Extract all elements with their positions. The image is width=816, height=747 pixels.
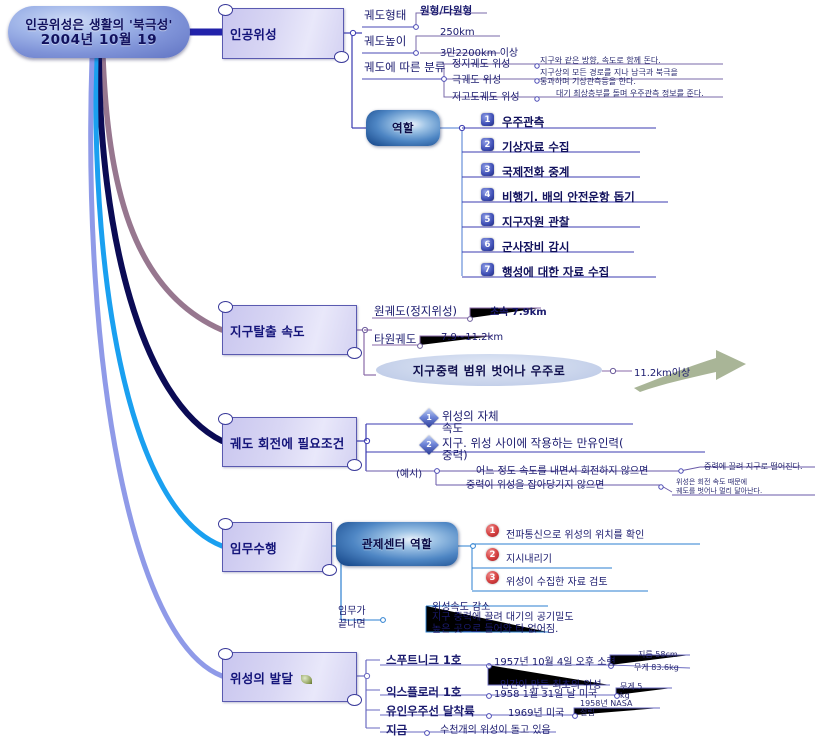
role-label-4: 비행기. 배의 안전운항 돕기 — [502, 189, 635, 205]
history-note-1a: 지름 58cm — [638, 650, 678, 660]
role-badge-3: 3 — [481, 163, 494, 176]
node-roles[interactable]: 역할 — [366, 110, 440, 146]
node-handle-bottom-right[interactable] — [322, 564, 337, 576]
value-orbit-altitude-1: 250km — [440, 27, 475, 38]
example-effect-2a: 위성은 회전 속도 때문에 — [676, 478, 747, 487]
label-orbit-classification: 궤도에 따른 분류 — [364, 61, 445, 73]
node-escape-to-space[interactable]: 지구중력 범위 벗어나 우주로 — [376, 354, 602, 386]
node-control-center[interactable]: 관제센터 역할 — [336, 522, 458, 566]
topic-node-mission[interactable]: 임무수행 — [222, 522, 332, 572]
node-handle-top-left[interactable] — [218, 413, 233, 425]
value-circular-orbit: 초속 7.9km — [490, 303, 547, 318]
control-badge-1: 1 — [486, 524, 499, 537]
orbit-type-polar: 극궤도 위성 — [452, 71, 501, 86]
control-label-1: 전파통신으로 위성의 위치를 확인 — [506, 526, 644, 541]
orbit-type-geostationary: 정지궤도 위성 — [452, 55, 510, 70]
orbit-type-low: 저고도궤도 위성 — [452, 88, 520, 103]
node-handle-top-left[interactable] — [218, 648, 233, 660]
topic-label-mission: 임무수행 — [223, 538, 277, 557]
node-handle-top-left[interactable] — [218, 4, 233, 16]
example-effect-1: 중력에 끌려 지구로 떨어진다. — [704, 462, 803, 472]
history-value-3: 1969년 미국 — [508, 704, 564, 719]
label-orbit-shape: 궤도형태 — [364, 9, 406, 21]
label-orbit-altitude: 궤도높이 — [364, 35, 406, 47]
role-label-3: 국제전화 중계 — [502, 164, 569, 180]
role-badge-6: 6 — [481, 238, 494, 251]
control-badge-2: 2 — [486, 548, 499, 561]
root-title-line1: 인공위성은 생활의 '북극성' — [25, 17, 172, 32]
topic-node-orbit-conditions[interactable]: 궤도 회전에 필요조건 — [222, 417, 357, 467]
role-label-5: 지구자원 관찰 — [502, 214, 569, 230]
topic-label-satellite: 인공위성 — [223, 24, 277, 43]
leaf-icon — [301, 675, 312, 684]
history-name-2: 익스플로러 1호 — [386, 684, 462, 700]
history-sub-2: 1958년 NASA 설립 — [580, 700, 632, 717]
role-label-2: 기상자료 수집 — [502, 139, 569, 155]
control-label-2: 지시내리기 — [506, 550, 552, 565]
condition-text-2: 지구. 위성 사이에 작용하는 만유인력( 중력) — [442, 437, 623, 461]
control-label-3: 위성이 수집한 자료 검토 — [506, 573, 608, 588]
role-label-1: 우주관측 — [502, 114, 544, 130]
role-badge-1: 1 — [481, 113, 494, 126]
control-badge-3: 3 — [486, 571, 499, 584]
topic-node-history[interactable]: 위성의 발달 — [222, 652, 357, 702]
orbit-desc-geostationary: 지구와 같은 방향, 속도로 함께 돈다. — [540, 56, 661, 66]
node-escape-to-space-label: 지구중력 범위 벗어나 우주로 — [413, 362, 566, 379]
condition-diamond-2: 2 — [419, 435, 439, 455]
label-circular-orbit: 원궤도(정지위성) — [374, 305, 457, 317]
condition-diamond-1: 1 — [419, 408, 439, 428]
node-handle-bottom-right[interactable] — [334, 51, 349, 63]
topic-label-history: 위성의 발달 — [223, 668, 293, 687]
role-badge-2: 2 — [481, 138, 494, 151]
example-cause-1: 어느 정도 속도를 내면서 회전하지 않으면 — [476, 462, 648, 477]
topic-node-satellite[interactable]: 인공위성 — [222, 8, 344, 59]
root-title-line2: 2004년 10월 19 — [25, 32, 172, 48]
role-label-7: 행성에 대한 자료 수집 — [502, 264, 609, 280]
node-roles-label: 역할 — [392, 120, 414, 136]
topic-label-orbit-conditions: 궤도 회전에 필요조건 — [223, 433, 344, 452]
example-effect-2b: 궤도를 벗어나 멀리 달아난다. — [676, 487, 762, 496]
history-name-1: 스푸트니크 1호 — [386, 652, 462, 668]
value-elliptic-orbit: 7.9~11.2km — [441, 332, 503, 343]
role-badge-5: 5 — [481, 213, 494, 226]
history-name-3: 유인우주선 달착륙 — [386, 703, 475, 719]
after-item-1: 위성속도 감소 — [432, 598, 490, 613]
orbit-desc-low: 대기 최상층부를 돌며 우주관측 정보를 준다. — [556, 89, 704, 99]
label-elliptic-orbit: 타원궤도 — [374, 333, 416, 345]
history-note-1b: 무게 83.6kg — [634, 663, 679, 673]
value-escape-threshold: 11.2km이상 — [634, 364, 690, 379]
orbit-desc-polar-2: 통과하며 기상관측등을 한다. — [540, 77, 636, 87]
role-badge-4: 4 — [481, 188, 494, 201]
history-value-2: 1958 1월 31일 날 미국 — [494, 685, 597, 700]
after-item-2: 지구 중력에 끌려 대기의 공기밀도 높은 곳으로 들어와 타 없어짐. — [432, 612, 574, 636]
node-handle-bottom-right[interactable] — [347, 459, 362, 471]
condition-text-1: 위성의 자체 속도 — [442, 410, 499, 434]
node-handle-bottom-right[interactable] — [347, 347, 362, 359]
topic-node-escape-speed[interactable]: 지구탈출 속도 — [222, 305, 357, 355]
node-handle-top-left[interactable] — [218, 518, 233, 530]
node-handle-bottom-right[interactable] — [347, 694, 362, 706]
role-label-6: 군사장비 감시 — [502, 239, 569, 255]
mindmap-canvas: 인공위성은 생활의 '북극성' 2004년 10월 19 인공위성 궤도형태 원… — [0, 0, 816, 747]
node-control-center-label: 관제센터 역할 — [362, 536, 432, 552]
label-after-mission: 임무가 끝나면 — [338, 605, 366, 631]
role-badge-7: 7 — [481, 263, 494, 276]
history-value-1: 1957년 10월 4일 오후 소련 — [494, 653, 616, 668]
history-value-4: 수천개의 위성이 돌고 있음 — [440, 721, 551, 736]
example-cause-2: 중력이 위성을 잡아당기지 않으면 — [466, 476, 604, 491]
node-handle-top-left[interactable] — [218, 301, 233, 313]
topic-label-escape-speed: 지구탈출 속도 — [223, 321, 305, 340]
value-orbit-shape: 원형/타원형 — [420, 3, 472, 18]
label-example: (예시) — [396, 465, 422, 480]
root-title-node[interactable]: 인공위성은 생활의 '북극성' 2004년 10월 19 — [8, 6, 190, 58]
history-name-4: 지금 — [386, 722, 407, 738]
